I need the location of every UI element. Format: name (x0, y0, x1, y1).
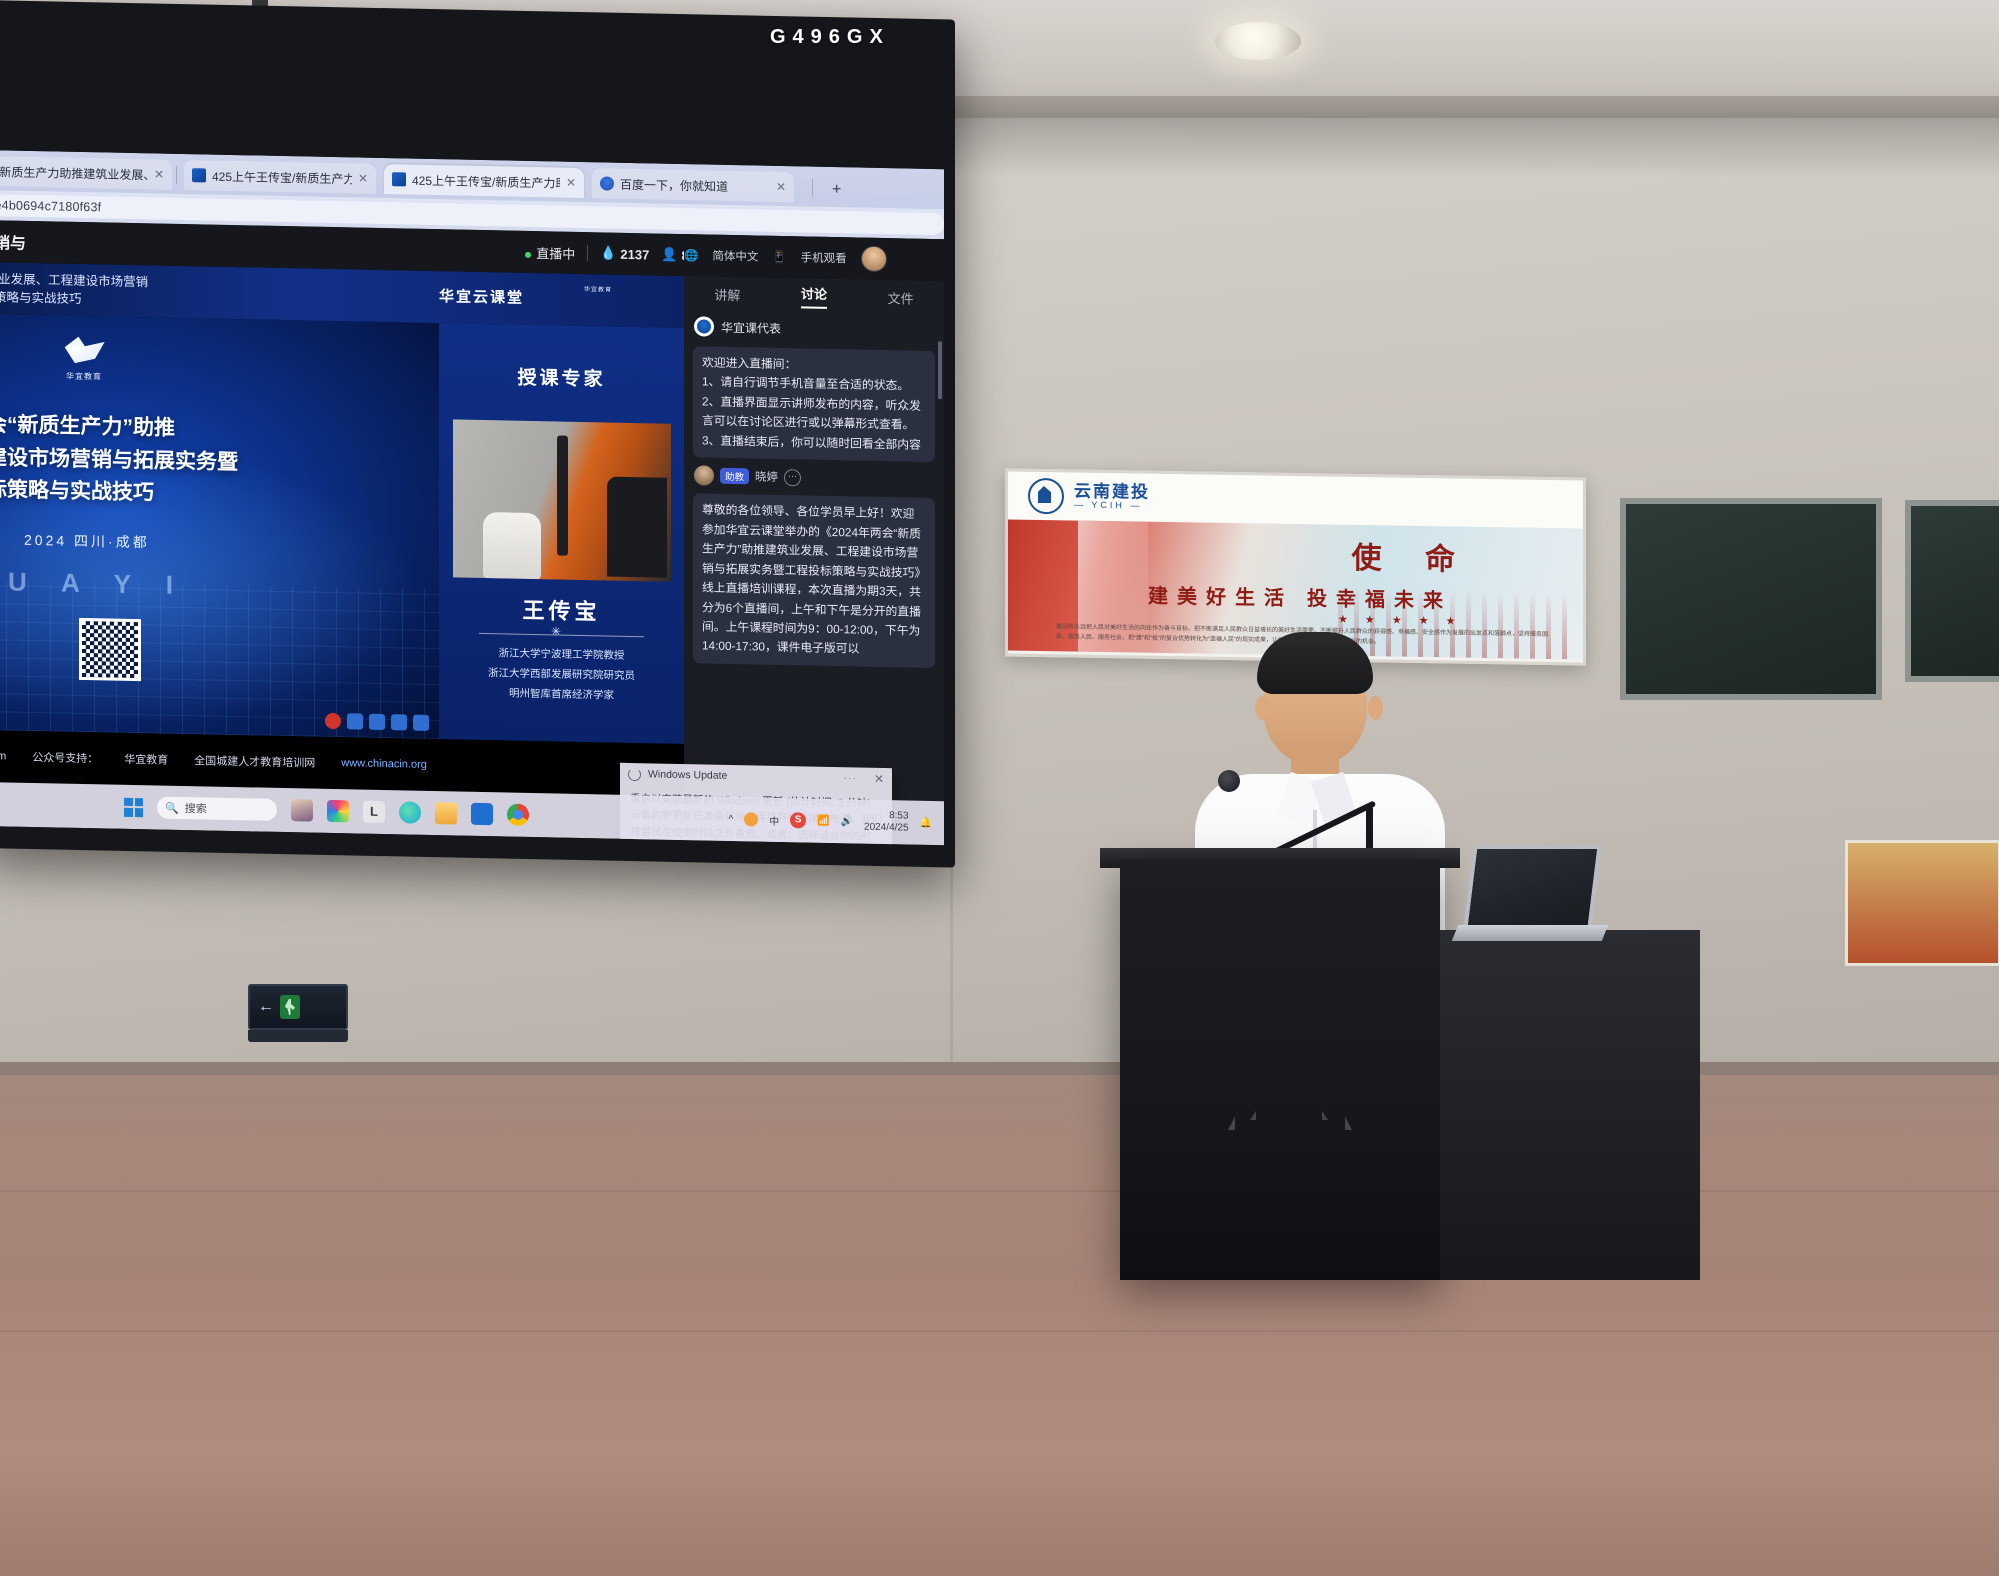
heat-count: 2137 (620, 246, 649, 262)
new-tab-button[interactable]: + (832, 181, 841, 199)
phone-icon[interactable]: 📱 (772, 250, 786, 264)
browser-tab[interactable]: 百度一下，你就知道 ✕ (592, 168, 794, 202)
chevron-up-icon[interactable]: ^ (728, 813, 733, 824)
display-screen: CD新质生产力助推建筑业发展、 ✕ 425上午王传宝/新质生产力助推 ✕ 425… (0, 150, 944, 845)
bell-icon[interactable]: 🔔 (920, 817, 932, 828)
banner-heading: 使 命 (1352, 533, 1474, 579)
wall-display: CD新质生产力助推建筑业发展、 ✕ 425上午王传宝/新质生产力助推 ✕ 425… (0, 0, 950, 845)
search-icon: 🔍 (165, 801, 179, 814)
live-title: 发展、工程建设市场营销与 (0, 226, 26, 254)
right-wall-window (1620, 498, 1882, 700)
sogou-input-icon[interactable] (744, 812, 758, 826)
discussion-scrollbar[interactable] (938, 341, 942, 399)
app-icon (413, 715, 429, 731)
huayi-avatar (694, 316, 714, 336)
tab-files[interactable]: 文件 (857, 287, 944, 308)
logo-caption: 华宜教育 (44, 370, 124, 383)
close-icon[interactable]: ✕ (358, 172, 368, 186)
user-avatar[interactable] (694, 466, 714, 486)
globe-icon[interactable]: 🌐 (684, 248, 698, 262)
slide-title: 年两会“新质生产力”助推 工程建设市场营销与拓展实务暨 程投标策略与实战技巧 (0, 408, 439, 516)
clock-time: 8:53 (864, 809, 909, 822)
dialog-title: Windows Update (648, 768, 727, 782)
language-selector[interactable]: 简体中文 (712, 248, 758, 265)
app-icon (347, 713, 363, 729)
url-text: c/l_6614f41fe4b0694c7180f63f (0, 197, 101, 215)
role-badge: 助教 (720, 468, 749, 485)
tab-label: CD新质生产力助推建筑业发展、 (0, 162, 148, 182)
ycih-logo-icon (1028, 478, 1064, 515)
cctv-icon (325, 713, 341, 729)
huayi-education-logo: 华宜教育 (44, 333, 124, 389)
expert-divider (479, 628, 644, 641)
presenter-ear (1255, 696, 1270, 720)
tab-label: 425上午王传宝/新质生产力助推 (412, 171, 560, 191)
user-avatar[interactable] (861, 246, 887, 273)
volume-icon[interactable]: 🔊 (841, 816, 853, 827)
expert-name: 王传宝 (439, 591, 684, 628)
right-wall-window (1905, 500, 1999, 682)
windows-start-icon[interactable] (124, 797, 143, 816)
close-icon[interactable]: ✕ (776, 180, 786, 194)
photo-pole (557, 436, 568, 556)
refresh-icon (628, 767, 641, 780)
photo-furniture (607, 477, 667, 578)
live-dot-icon (525, 251, 531, 257)
divider (587, 245, 588, 261)
banner-org-en: — YCIH — (1074, 501, 1150, 512)
footer-link[interactable]: www.chinacin.org (341, 757, 427, 771)
close-icon[interactable]: ✕ (874, 772, 884, 786)
s-app-icon[interactable]: S (790, 812, 806, 828)
host-name: 华宜课代表 (721, 318, 781, 336)
slide-content: 华宜教育 年两会“新质生产力”助推 工程建设市场营销与拓展实务暨 程投标策略与实… (0, 314, 439, 739)
tab-label: 425上午王传宝/新质生产力助推 (212, 167, 352, 187)
presenter-ear (1368, 696, 1383, 720)
photo-chair (483, 512, 541, 579)
paint-3d-icon[interactable] (327, 800, 349, 822)
logo-caption: 华宜教育 (584, 287, 612, 294)
huayi-mark-icon (61, 334, 107, 369)
tab-divider (176, 166, 177, 184)
exit-sign-base (248, 1030, 348, 1042)
footer-org: 全国城建人才教育培训网 (194, 752, 315, 770)
footer-support: 华宜教育 (124, 751, 168, 768)
lecture-room-photo (453, 419, 671, 581)
credential-item: 明州智库首席经济学家 (439, 683, 684, 708)
welcome-message: 欢迎进入直播间： 1、请自行调节手机音量至合适的状态。 2、直播界面显示讲师发布… (693, 346, 935, 462)
huayi-education-logo: 华宜教育 (584, 278, 630, 323)
close-icon[interactable]: ✕ (566, 176, 576, 190)
people-icon: 👤 (661, 247, 677, 263)
edge-browser-icon[interactable] (399, 801, 421, 823)
user-message: 尊敬的各位领导、各位学员早上好！欢迎参加华宜云课堂举办的《2024年两会“新质生… (693, 493, 935, 667)
input-method-icon[interactable]: 中 (769, 812, 779, 827)
baidu-icon (600, 176, 614, 190)
blue-app-icon[interactable] (471, 803, 493, 825)
chrome-browser-icon[interactable] (507, 803, 529, 825)
expert-credentials: 浙江大学宁波理工学院教授 浙江大学西部发展研究院研究员 明州智库首席经济学家 (439, 643, 684, 708)
message-user-row: 助教 晓婷 ⋯ (684, 461, 944, 494)
letter-l-app-icon[interactable]: L (363, 801, 385, 823)
search-input[interactable]: 🔍 搜索 (157, 796, 277, 820)
live-status-badge: 直播中 (525, 242, 575, 262)
qr-code (79, 618, 141, 681)
pixel-art-app-icon[interactable] (291, 799, 313, 821)
right-wall-poster (1845, 840, 1999, 966)
discussion-tabs: 讲解 讨论 文件 (684, 276, 944, 315)
browser-tab[interactable]: CD新质生产力助推建筑业发展、 ✕ (0, 155, 172, 189)
banner-stars: ★ ★ ★ ★ ★ (1338, 613, 1463, 628)
running-man-icon (280, 995, 300, 1019)
expert-section-title: 授课专家 (439, 323, 684, 393)
app-icon (391, 714, 407, 730)
flame-icon: 💧 (600, 245, 616, 261)
laptop-keyboard (1452, 925, 1608, 941)
slide-footer-icons (325, 713, 429, 731)
discussion-panel: 讲解 讨论 文件 华宜课代表 欢迎进入直播间： 1、请自行调节手机音量至合适的状… (684, 276, 944, 801)
host-row: 华宜课代表 (684, 310, 944, 347)
footer-site: hbhykt.com (0, 749, 6, 762)
overlay-code: G496GX (770, 26, 890, 49)
slide-brand-center: 华宜云课堂 (439, 285, 524, 308)
wifi-icon[interactable]: 📶 (817, 815, 829, 826)
live-status-label: 直播中 (536, 246, 575, 262)
clock-date: 2024/4/25 (864, 822, 909, 835)
huayi-icon (192, 168, 206, 182)
app-icon (369, 714, 385, 730)
tab-divider (812, 179, 813, 197)
close-icon[interactable]: ✕ (154, 167, 164, 181)
expert-panel: 授课专家 王传宝 浙江大学宁波理工学院教授 浙江大学西部发展研究院研究员 明州智… (439, 323, 684, 744)
live-stage: 质生产力”助推建筑业发展、工程建设市场营销 展实务暨工程投标策略与实战技巧 华宜… (0, 262, 684, 796)
browser-tab[interactable]: 425上午王传宝/新质生产力助推 ✕ (184, 160, 376, 194)
side-table (1440, 930, 1700, 1280)
clock[interactable]: 8:53 2024/4/25 (864, 809, 909, 835)
more-dots-icon[interactable]: ⋯ (784, 469, 801, 486)
huayi-icon (392, 172, 406, 186)
presenter-hair (1257, 632, 1373, 694)
ceiling-downlight (1215, 22, 1301, 60)
floor-seam (0, 1330, 1999, 1332)
slide-watermark: H U A Y I (0, 565, 187, 601)
banner-slogan: 建美好生活 投幸福未来 (1148, 580, 1452, 614)
microphone-head (1218, 770, 1240, 792)
user-name: 晓婷 (755, 469, 778, 485)
mobile-view-button[interactable]: 手机观看 (801, 249, 847, 266)
tab-label: 百度一下，你就知道 (620, 175, 770, 195)
emergency-exit-sign: ← (248, 984, 348, 1030)
search-placeholder: 搜索 (185, 800, 207, 816)
exit-arrow-icon: ← (258, 998, 274, 1016)
system-tray: ^ 中 S 📶 🔊 8:53 2024/4/25 🔔 (728, 806, 944, 835)
file-explorer-icon[interactable] (435, 802, 457, 824)
heat-metric: 💧 2137 (600, 245, 649, 262)
taskbar-apps: 🔍 搜索 L (124, 796, 529, 826)
tab-discussion[interactable]: 讨论 (771, 282, 858, 309)
more-options-icon[interactable]: ··· (843, 772, 857, 784)
tab-explain[interactable]: 讲解 (684, 284, 771, 305)
top-utility-row: 🌐 简体中文 📱 手机观看 (684, 234, 944, 281)
browser-tab-active[interactable]: 425上午王传宝/新质生产力助推 ✕ (384, 164, 584, 198)
laptop-screen (1462, 845, 1601, 937)
footer-support-label: 公众号支持： (32, 749, 98, 766)
